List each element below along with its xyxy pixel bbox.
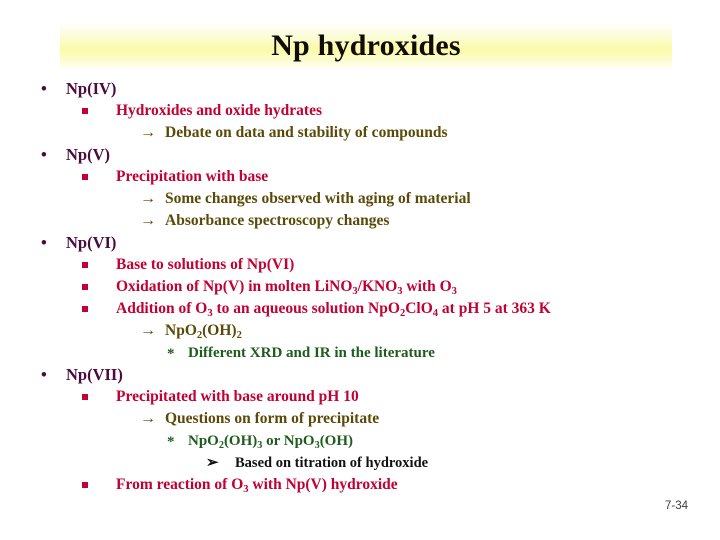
square-bullet-icon xyxy=(82,262,88,268)
disc-bullet-icon: • xyxy=(41,232,47,254)
outline-item-level1: •Np(VII) xyxy=(0,364,720,386)
outline-item-label: NpO2(OH)3 or NpO3(OH) xyxy=(188,430,353,452)
arrow-right-bullet-icon: → xyxy=(140,210,156,232)
square-bullet-icon xyxy=(82,306,88,312)
outline-item-level1: •Np(V) xyxy=(0,144,720,166)
square-bullet-icon xyxy=(82,108,88,114)
square-bullet-icon xyxy=(82,394,88,400)
square-bullet-icon xyxy=(82,174,88,180)
outline-item-level2: Base to solutions of Np(VI) xyxy=(0,254,720,276)
disc-bullet-icon: • xyxy=(41,78,47,100)
outline-item-level2: Precipitated with base around pH 10 xyxy=(0,386,720,408)
outline-item-label: NpO2(OH)2 xyxy=(165,320,242,342)
outline-item-label: Np(VI) xyxy=(66,232,116,254)
outline-item-level4: *Different XRD and IR in the literature xyxy=(0,342,720,364)
arrow-right-bullet-icon: → xyxy=(140,188,156,210)
square-bullet-icon xyxy=(82,284,88,290)
outline-item-label: Addition of O3 to an aqueous solution Np… xyxy=(116,298,551,320)
outline-item-label: Np(V) xyxy=(66,144,110,166)
outline-item-label: Questions on form of precipitate xyxy=(165,408,379,430)
slide-title: Np hydroxides xyxy=(60,22,672,70)
outline-item-label: Hydroxides and oxide hydrates xyxy=(116,100,322,122)
outline-item-level5: ➢Based on titration of hydroxide xyxy=(0,452,720,474)
outline-item-label: Absorbance spectroscopy changes xyxy=(165,210,389,232)
outline-item-label: Precipitated with base around pH 10 xyxy=(116,386,359,408)
outline-item-level4: *NpO2(OH)3 or NpO3(OH) xyxy=(0,430,720,452)
arrow-right-bullet-icon: → xyxy=(140,320,156,342)
outline-item-label: Np(IV) xyxy=(66,78,116,100)
asterisk-bullet-icon: * xyxy=(167,343,175,365)
outline-item-level2: From reaction of O3 with Np(V) hydroxide xyxy=(0,474,720,496)
outline-item-level2: Hydroxides and oxide hydrates xyxy=(0,100,720,122)
outline-item-label: Some changes observed with aging of mate… xyxy=(165,188,471,210)
arrow-right-bullet-icon: → xyxy=(140,408,156,430)
chevron-arrow-bullet-icon: ➢ xyxy=(206,452,219,474)
outline-item-level3: →Absorbance spectroscopy changes xyxy=(0,210,720,232)
disc-bullet-icon: • xyxy=(41,364,47,386)
outline-item-level2: Addition of O3 to an aqueous solution Np… xyxy=(0,298,720,320)
arrow-right-bullet-icon: → xyxy=(140,122,156,144)
outline-item-label: Different XRD and IR in the literature xyxy=(188,342,435,364)
outline-item-level3: →Debate on data and stability of compoun… xyxy=(0,122,720,144)
slide-canvas: Np hydroxides •Np(IV)Hydroxides and oxid… xyxy=(0,0,720,540)
outline-item-level1: •Np(VI) xyxy=(0,232,720,254)
outline-item-level2: Oxidation of Np(V) in molten LiNO3/KNO3 … xyxy=(0,276,720,298)
outline-item-level1: •Np(IV) xyxy=(0,78,720,100)
outline-item-level3: →NpO2(OH)2 xyxy=(0,320,720,342)
asterisk-bullet-icon: * xyxy=(167,431,175,453)
outline-item-label: Precipitation with base xyxy=(116,166,268,188)
page-number: 7-34 xyxy=(665,500,688,512)
outline-item-label: Base to solutions of Np(VI) xyxy=(116,254,294,276)
slide-body-outline: •Np(IV)Hydroxides and oxide hydrates→Deb… xyxy=(0,78,720,496)
outline-item-label: Np(VII) xyxy=(66,364,123,386)
disc-bullet-icon: • xyxy=(41,144,47,166)
outline-item-label: Based on titration of hydroxide xyxy=(235,452,428,474)
outline-item-label: From reaction of O3 with Np(V) hydroxide xyxy=(116,474,398,496)
outline-item-label: Debate on data and stability of compound… xyxy=(165,122,448,144)
outline-item-level3: →Questions on form of precipitate xyxy=(0,408,720,430)
square-bullet-icon xyxy=(82,482,88,488)
outline-item-label: Oxidation of Np(V) in molten LiNO3/KNO3 … xyxy=(116,276,457,298)
outline-item-level3: →Some changes observed with aging of mat… xyxy=(0,188,720,210)
outline-item-level2: Precipitation with base xyxy=(0,166,720,188)
